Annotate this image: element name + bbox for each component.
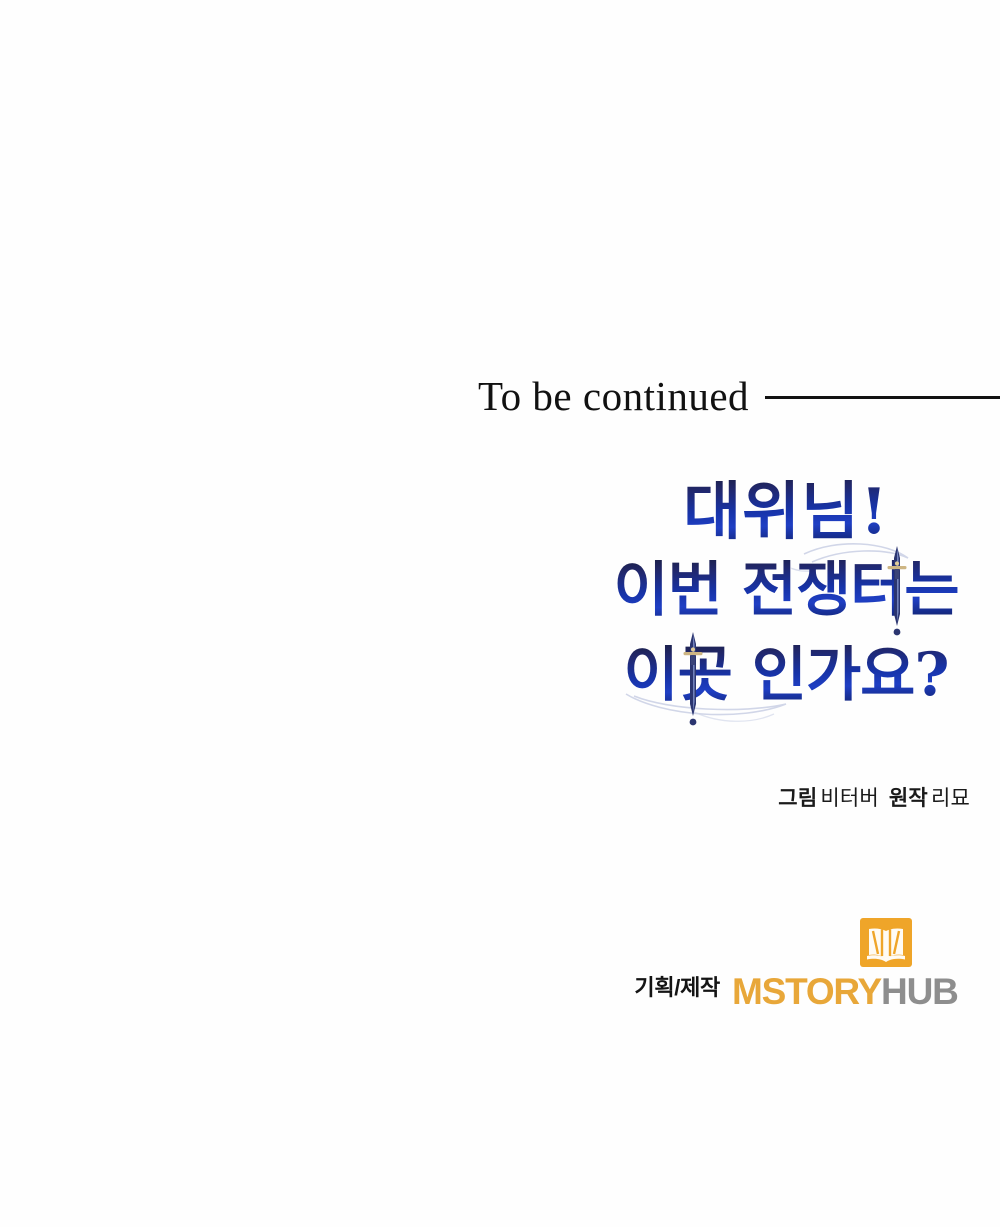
- to-be-continued-row: To be continued: [478, 366, 1000, 424]
- art-credit-value: 비터버: [820, 787, 879, 810]
- open-book-icon: [860, 918, 912, 967]
- horizontal-rule: [765, 396, 1000, 399]
- title-line-2: 이번 전쟁터는: [590, 560, 982, 620]
- mstoryhub-logo: MSTORYHUB: [732, 918, 982, 1010]
- mstoryhub-wordmark: MSTORYHUB: [732, 973, 958, 1010]
- original-credit-label: 원작: [889, 787, 928, 810]
- credits-line: 그림비터버원작리묘: [600, 782, 970, 812]
- series-title-logo: 대위님! 이번 전쟁터는 이곳 인가요?: [590, 462, 982, 730]
- publisher-row: 기획/제작 MSTORYHUB: [600, 918, 982, 1010]
- to-be-continued-text: To be continued: [478, 374, 749, 417]
- title-line-1: 대위님!: [590, 480, 982, 543]
- title-line-3: 이곳 인가요?: [590, 645, 982, 705]
- brand-primary-text: MSTORY: [732, 971, 881, 1012]
- publisher-label: 기획/제작: [634, 970, 720, 1002]
- original-credit-value: 리묘: [931, 787, 970, 810]
- brand-secondary-text: HUB: [881, 971, 958, 1012]
- comic-end-page: To be continued 대위님! 이번 전쟁터는 이곳 인가요?: [0, 0, 1000, 1227]
- art-credit-label: 그림: [778, 787, 817, 810]
